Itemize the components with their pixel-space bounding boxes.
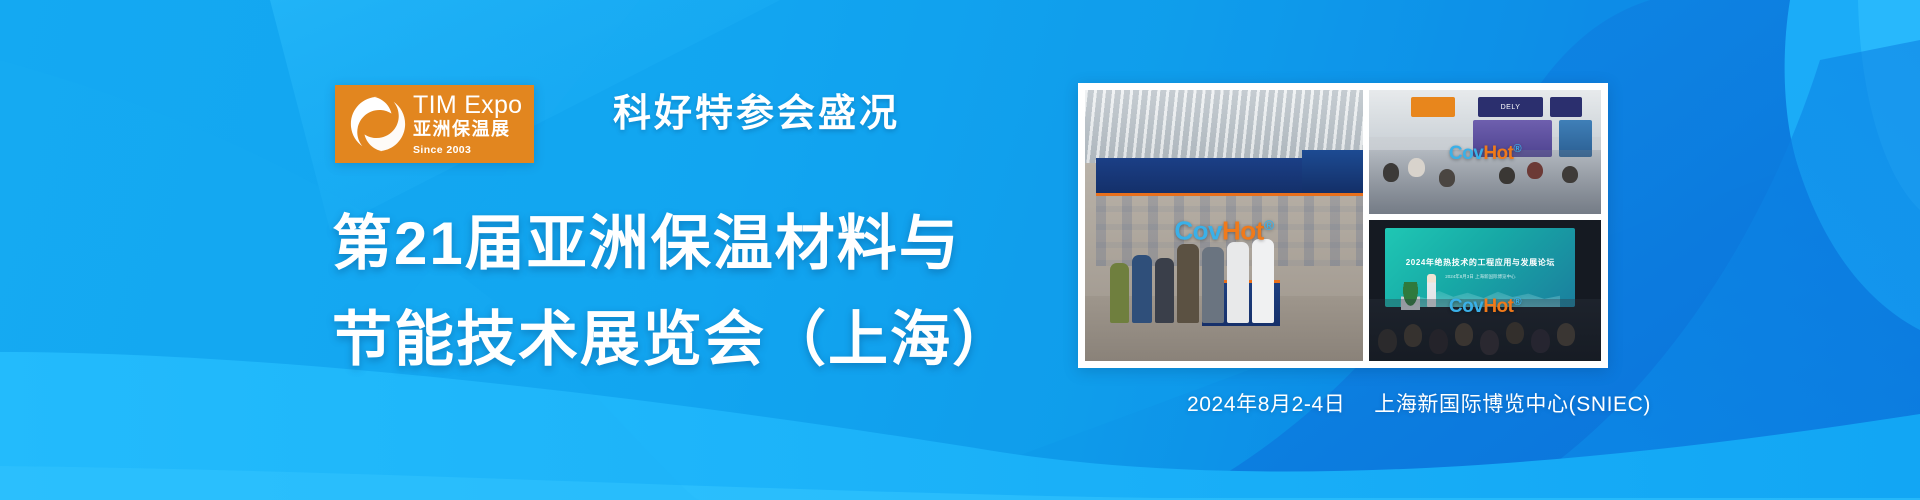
- booth-photo[interactable]: CovHot®: [1085, 90, 1363, 361]
- hall-sign-dely: DELY: [1478, 97, 1543, 117]
- tim-expo-logo[interactable]: TIM Expo 亚洲保温展 Since 2003: [335, 85, 534, 163]
- exhibition-hall-photo[interactable]: DELY CovHot®: [1369, 90, 1601, 214]
- visitor-figure: [1177, 244, 1199, 323]
- person-head: [1527, 162, 1543, 179]
- page-title: 第21届亚洲保温材料与 节能技术展览会（上海）: [332, 196, 1014, 388]
- right-photo-column: DELY CovHot® 2: [1369, 90, 1601, 361]
- visitor-figure: [1155, 258, 1174, 323]
- audience-head: [1480, 330, 1499, 355]
- exhibition-photo-collage[interactable]: CovHot® DELY CovHot®: [1078, 83, 1608, 368]
- booth-company-banner: [1096, 158, 1302, 196]
- hall-sign-orange: [1411, 97, 1455, 117]
- kicker-text: 科好特参会盛况: [613, 95, 900, 133]
- event-date: 2024年8月2-4日: [1187, 393, 1345, 416]
- audience-head: [1404, 324, 1423, 347]
- forum-screen-subtitle: 2024年8月3日 上海新国际博览中心: [1392, 274, 1568, 280]
- visitor-figure: [1132, 255, 1151, 323]
- logo-english-text: TIM Expo: [413, 92, 522, 118]
- audience-head: [1557, 323, 1576, 346]
- visitor-figure: [1252, 239, 1274, 323]
- person-head: [1439, 169, 1455, 186]
- forum-photo[interactable]: 2024年绝热技术的工程应用与发展论坛 2024年8月3日 上海新国际博览中心 …: [1369, 220, 1601, 361]
- audience-head: [1429, 329, 1448, 354]
- booth-side-banner: [1302, 150, 1363, 196]
- event-date-venue: 2024年8月2-4日 上海新国际博览中心(SNIEC): [1187, 388, 1651, 418]
- person-head: [1499, 167, 1515, 184]
- hall-sign-right: [1550, 97, 1582, 117]
- yin-yang-swoosh-icon: [347, 93, 409, 155]
- audience-head: [1531, 329, 1550, 353]
- title-line-2: 节能技术展览会（上海）: [332, 292, 1014, 388]
- person-head: [1408, 158, 1424, 177]
- visitor-figure: [1202, 247, 1224, 323]
- visitor-figure: [1110, 263, 1129, 323]
- audience-head: [1378, 329, 1397, 353]
- logo-since-text: Since 2003: [413, 144, 522, 156]
- exhibition-banner: TIM Expo 亚洲保温展 Since 2003 科好特参会盛况 第21届亚洲…: [0, 0, 1920, 500]
- visitor-figure: [1227, 242, 1249, 323]
- forum-screen-title: 2024年绝热技术的工程应用与发展论坛: [1392, 257, 1568, 268]
- event-venue: 上海新国际博览中心(SNIEC): [1374, 393, 1651, 416]
- person-head: [1562, 166, 1578, 183]
- audience-head: [1506, 322, 1525, 345]
- person-head: [1383, 163, 1399, 182]
- logo-chinese-text: 亚洲保温展: [413, 119, 522, 140]
- title-line-1: 第21届亚洲保温材料与: [332, 210, 961, 277]
- audience-head: [1455, 323, 1474, 346]
